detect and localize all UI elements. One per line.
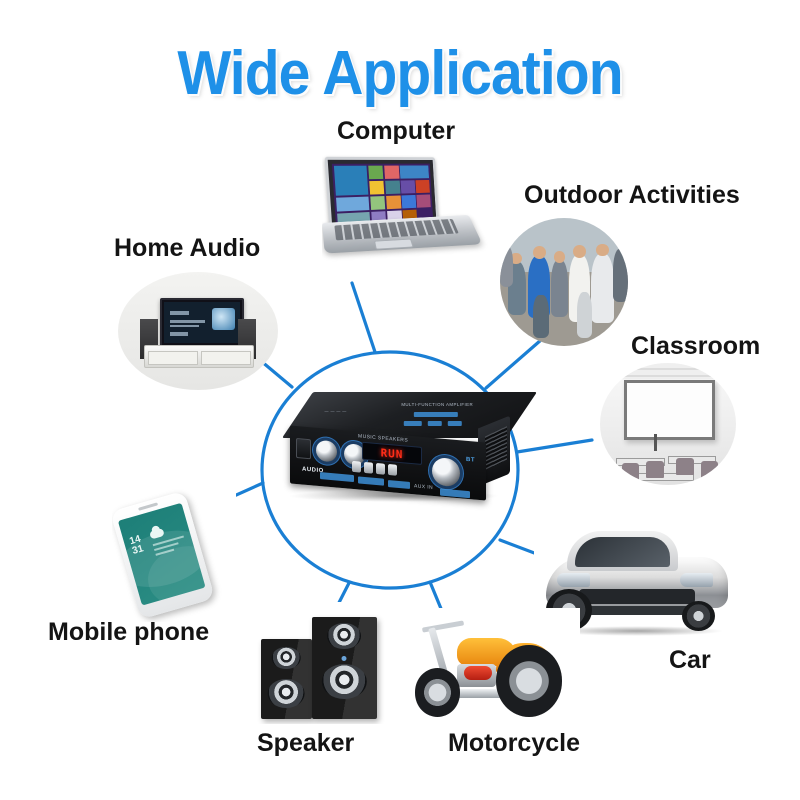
speaker-right-woofer: [322, 664, 366, 699]
amplifier-top-marks: — — — —: [325, 408, 347, 413]
media-home-audio: [118, 272, 278, 390]
amplifier-panel-title: MULTI-FUNCTION AMPLIFIER: [401, 402, 473, 408]
laptop-trackpad: [374, 239, 414, 250]
media-classroom: [600, 363, 736, 485]
speaker-left: [261, 639, 312, 720]
led-display: RUN: [362, 442, 422, 465]
phone-screen: 1431: [119, 503, 207, 605]
speaker-left-woofer: [268, 679, 305, 708]
knob-volume[interactable]: [432, 457, 460, 487]
node-label-classroom: Classroom: [631, 334, 760, 359]
spoke-computer: [352, 283, 375, 352]
speaker-right-tweeter: [327, 623, 361, 650]
motorcycle-red-cover: [464, 666, 492, 680]
smartphone-body: 1431: [112, 490, 215, 619]
car-grille: [579, 589, 694, 604]
laptop-keyboard: [334, 219, 458, 240]
spoke-classroom: [517, 440, 592, 452]
button-next[interactable]: [376, 463, 385, 475]
bt-indicator: BT: [466, 457, 475, 464]
motorcycle-front-wheel: [415, 668, 461, 717]
car-windshield: [575, 537, 670, 567]
node-label-speaker: Speaker: [257, 731, 354, 756]
node-label-outdoor-activities: Outdoor Activities: [524, 183, 740, 208]
classroom-projection-screen: [624, 380, 714, 440]
speaker-right: [312, 617, 377, 719]
aux-label: AUX IN: [414, 483, 433, 491]
node-label-car: Car: [669, 648, 711, 673]
node-label-motorcycle: Motorcycle: [448, 731, 580, 756]
outdoor-crowd: [500, 218, 628, 346]
infographic-canvas: Wide Application: [0, 0, 800, 800]
power-switch[interactable]: [296, 438, 311, 459]
home-audio-tv: [160, 298, 244, 347]
media-outdoor-activities: [500, 218, 628, 346]
car-headlight-right: [680, 573, 713, 587]
button-prev[interactable]: [352, 461, 361, 473]
node-label-mobile-phone: Mobile phone: [48, 620, 209, 645]
node-label-computer: Computer: [337, 119, 455, 144]
home-audio-console: [144, 345, 255, 368]
button-play[interactable]: [364, 462, 373, 474]
media-mobile-phone: 1431: [112, 482, 236, 622]
media-computer: [322, 153, 498, 265]
amplifier-vent-grille: [485, 426, 507, 470]
speaker-left-tweeter: [272, 647, 301, 670]
knob-bass[interactable]: [316, 440, 337, 463]
laptop-base: [322, 215, 483, 254]
motorcycle-rear-wheel: [496, 645, 563, 717]
transport-buttons[interactable]: [352, 461, 397, 476]
node-label-home-audio: Home Audio: [114, 236, 260, 261]
button-mode[interactable]: [388, 464, 397, 476]
classroom-room: [600, 363, 736, 485]
speaker-power-led: [342, 656, 347, 661]
amplifier-device: MULTI-FUNCTION AMPLIFIER — — — — RUN: [282, 392, 512, 504]
car-headlight-left: [557, 573, 590, 587]
spoke-outdoor: [486, 340, 541, 388]
media-motorcycle: [404, 608, 580, 724]
media-speaker: [252, 602, 394, 724]
